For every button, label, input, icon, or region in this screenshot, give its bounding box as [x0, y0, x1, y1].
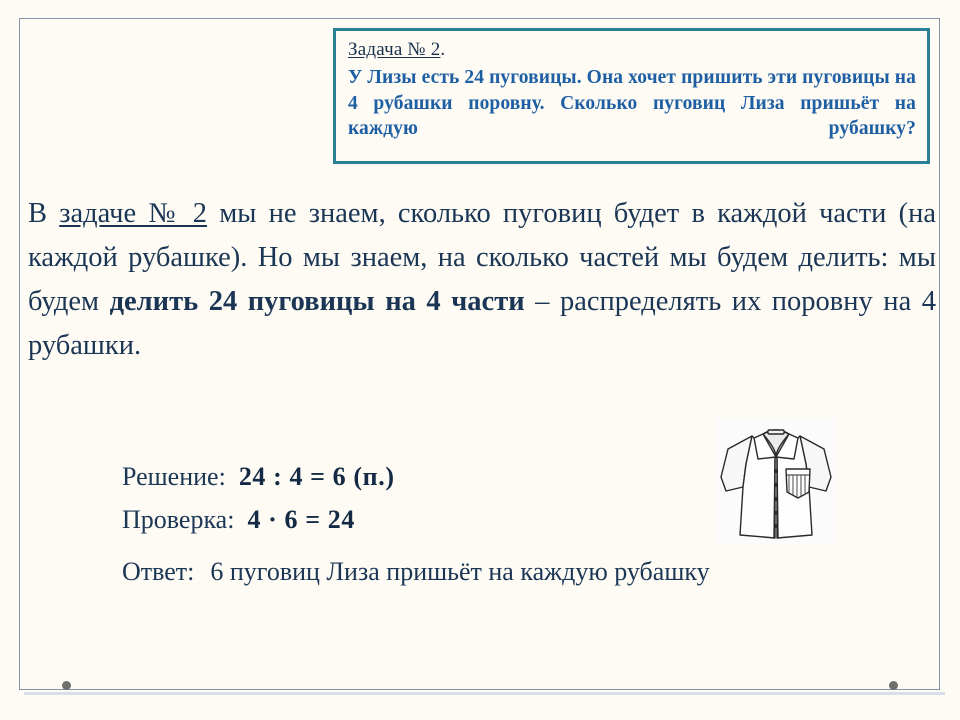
- solution-label-reshenie: Решение:: [122, 462, 226, 491]
- problem-title: Задача № 2.: [348, 37, 916, 62]
- problem-title-underlined: Задача № 2: [348, 39, 440, 60]
- answer-text: 6 пуговиц Лиза пришьёт на каждую рубашку: [210, 551, 750, 593]
- solution-value-reshenie: 24 : 4 = 6 (п.): [239, 462, 395, 491]
- decorative-dot-left: [62, 681, 71, 690]
- shirt-icon: [716, 419, 836, 543]
- problem-statement-box: Задача № 2. У Лизы есть 24 пуговицы. Она…: [333, 28, 930, 164]
- answer-row: Ответ:6 пуговиц Лиза пришьёт на каждую р…: [122, 551, 822, 593]
- problem-title-period: .: [440, 39, 445, 60]
- slide: Задача № 2. У Лизы есть 24 пуговицы. Она…: [0, 0, 960, 720]
- paragraph-reference-link: задаче № 2: [59, 198, 207, 229]
- answer-label: Ответ:: [122, 551, 194, 593]
- paragraph-emphasis: делить 24 пуговицы на 4 части: [110, 286, 525, 317]
- shirt-illustration: [716, 419, 836, 543]
- decorative-dot-right: [889, 681, 898, 690]
- problem-statement-text: У Лизы есть 24 пуговицы. Она хочет приши…: [348, 65, 916, 142]
- solution-label-proverka: Проверка:: [122, 505, 234, 534]
- solution-value-proverka: 4 · 6 = 24: [247, 505, 355, 534]
- slide-border-shadow: [24, 692, 945, 695]
- paragraph-part-1: В: [28, 198, 59, 229]
- explanation-paragraph: В задаче № 2 мы не знаем, сколько пугови…: [28, 192, 936, 368]
